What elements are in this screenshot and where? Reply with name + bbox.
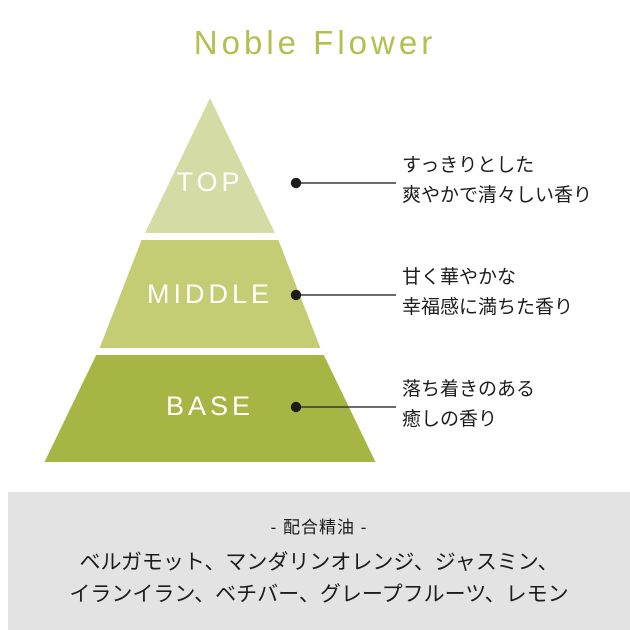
ingredients-list: ベルガモット、マンダリンオレンジ、ジャスミン、 イランイラン、ベチバー、グレープ… <box>8 547 630 611</box>
ingredients-line-1: ベルガモット、マンダリンオレンジ、ジャスミン、 <box>8 547 630 579</box>
description-base-line-1: 落ち着きのある <box>402 375 535 405</box>
description-middle-line-2: 幸福感に満ちた香り <box>402 293 573 323</box>
description-middle-line-1: 甘く華やかな <box>402 263 573 293</box>
description-top-line-1: すっきりとした <box>402 151 592 181</box>
description-middle: 甘く華やかな 幸福感に満ちた香り <box>402 263 573 323</box>
pyramid-label-base: BASE <box>0 391 420 422</box>
ingredients-panel: - 配合精油 - ベルガモット、マンダリンオレンジ、ジャスミン、 イランイラン、… <box>8 492 630 630</box>
pyramid-label-middle: MIDDLE <box>0 279 420 310</box>
pyramid-label-top: TOP <box>0 167 420 198</box>
ingredients-heading: - 配合精油 - <box>8 515 630 541</box>
pyramid-band-top[interactable] <box>145 98 275 233</box>
ingredients-line-2: イランイラン、ベチバー、グレープフルーツ、レモン <box>8 579 630 611</box>
description-base-line-2: 癒しの香り <box>402 405 535 435</box>
description-top: すっきりとした 爽やかで清々しい香り <box>402 151 592 211</box>
description-top-line-2: 爽やかで清々しい香り <box>402 181 592 211</box>
description-base: 落ち着きのある 癒しの香り <box>402 375 535 435</box>
fragrance-pyramid: TOP MIDDLE BASE すっきりとした 爽やかで清々しい香り 甘く華やか… <box>0 0 630 492</box>
fragrance-pyramid-infographic: Noble Flower TOP MIDDLE BASE すっきりとした 爽やか… <box>0 0 630 630</box>
